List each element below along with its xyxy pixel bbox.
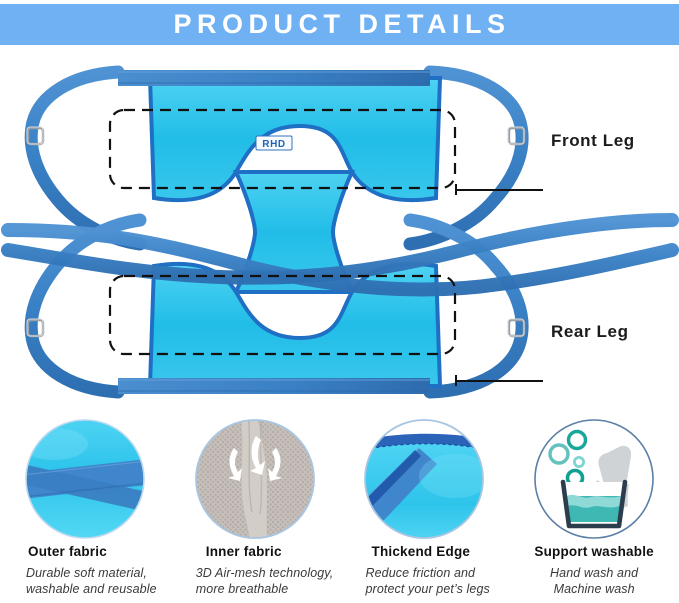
feature-description: Reduce friction and protect your pet’s l… xyxy=(340,565,510,597)
front-leg-leader-line xyxy=(455,189,543,191)
front-leg-leader-tick xyxy=(455,184,457,195)
bottom-edge-band xyxy=(118,378,430,394)
feature-title: Inner fabric xyxy=(170,544,340,559)
page-title: PRODUCT DETAILS xyxy=(169,11,511,38)
product-details-infographic: PRODUCT DETAILS xyxy=(0,0,679,603)
feature-description: Durable soft material, washable and reus… xyxy=(0,565,170,597)
feature-outer-fabric: Outer fabric Durable soft material, wash… xyxy=(0,418,170,603)
header-banner: PRODUCT DETAILS xyxy=(0,4,679,45)
callout-label-front-leg: Front Leg xyxy=(551,131,635,151)
feature-support-washable: Support washable Hand wash and Machine w… xyxy=(509,418,679,603)
edge-binding-icon xyxy=(363,418,485,540)
feature-description: Hand wash and Machine wash xyxy=(509,565,679,597)
rear-leg-leader-line xyxy=(455,380,543,382)
callout-label-rear-leg: Rear Leg xyxy=(551,322,629,342)
brand-tag-text: RHD xyxy=(262,139,285,150)
product-illustration: RHD xyxy=(0,48,679,416)
feature-title: Support washable xyxy=(509,544,679,559)
hand-wash-basin-icon xyxy=(533,418,655,540)
basin-icon xyxy=(563,482,625,526)
top-edge-band xyxy=(118,70,430,86)
brand-tag: RHD xyxy=(256,136,292,150)
feature-description: 3D Air-mesh technology, more breathable xyxy=(170,565,340,597)
air-mesh-arrows-icon xyxy=(194,418,316,540)
harness-diagram: RHD xyxy=(0,48,679,416)
fabric-strap-swatch-icon xyxy=(24,418,146,540)
feature-thickend-edge: Thickend Edge Reduce friction and protec… xyxy=(340,418,510,603)
rear-leg-leader-tick xyxy=(455,375,457,386)
feature-row: Outer fabric Durable soft material, wash… xyxy=(0,418,679,603)
crossing-handle-straps xyxy=(8,220,672,290)
feature-inner-fabric: Inner fabric 3D Air-mesh technology, mor… xyxy=(170,418,340,603)
feature-title: Thickend Edge xyxy=(340,544,510,559)
feature-title: Outer fabric xyxy=(0,544,170,559)
